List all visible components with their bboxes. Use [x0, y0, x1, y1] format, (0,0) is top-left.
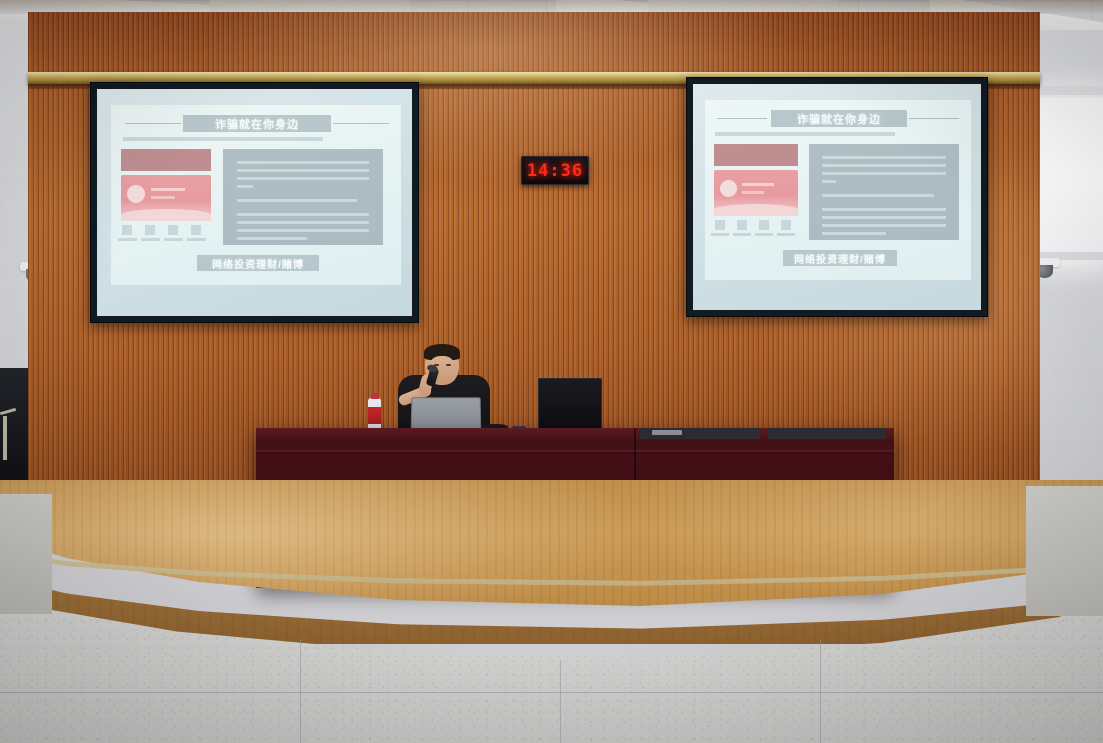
right-projection-screen: 诈骗就在你身边 — [686, 77, 988, 317]
podium-nameplate — [652, 430, 682, 435]
external-monitor[interactable] — [538, 378, 602, 430]
slide-app-card-left — [121, 175, 211, 217]
podium-rail — [256, 450, 894, 454]
clock-time: 14:36 — [527, 161, 583, 181]
slide-red-callout-left — [121, 149, 211, 171]
floor-seam-4 — [820, 640, 821, 743]
window-right — [1036, 98, 1103, 258]
floor-left-strip — [0, 494, 52, 614]
digital-clock: 14:36 — [521, 156, 589, 185]
bottle-label — [368, 407, 381, 424]
laptop-screen[interactable] — [411, 397, 482, 432]
window-header — [1030, 86, 1103, 95]
presenter-eye-right — [446, 364, 451, 366]
floor-seam-2 — [300, 640, 301, 743]
floor-seam-1 — [0, 692, 1103, 693]
podium-inset-right — [768, 428, 886, 439]
slide-text-panel-right — [809, 144, 959, 240]
slide-subtitle-right — [715, 132, 895, 136]
slide-title-left: 诈骗就在你身边 — [183, 115, 331, 132]
floor-seam-3 — [560, 660, 561, 743]
slide-banner-left: 网络投资理财/赌博 — [197, 255, 319, 271]
left-projection-screen: 诈骗就在你身边 — [90, 82, 419, 323]
slide-banner-right: 网络投资理财/赌博 — [783, 250, 897, 266]
slide-title-right: 诈骗就在你身边 — [771, 110, 907, 127]
floor-right-strip — [1026, 486, 1103, 616]
covered-equipment-leg — [3, 416, 7, 460]
bottle-cap — [371, 393, 379, 399]
slide-text-panel-left — [223, 149, 383, 245]
slide-red-callout-right — [714, 144, 798, 166]
slide-app-card-right — [714, 170, 798, 212]
slide-subtitle-left — [123, 137, 323, 141]
lecture-hall-scene: 诈骗就在你身边 — [0, 0, 1103, 743]
